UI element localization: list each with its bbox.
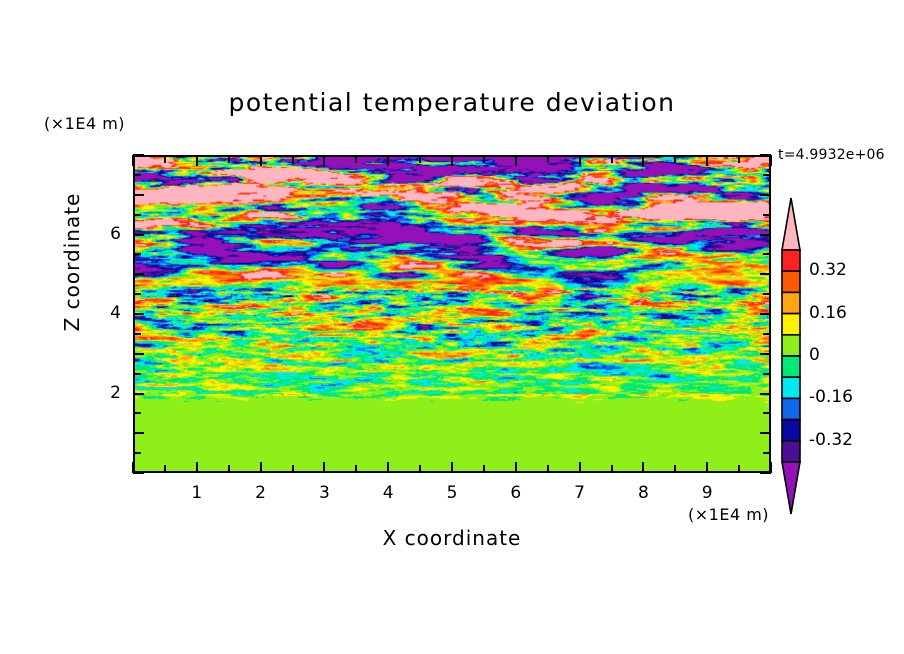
x-tick-top (642, 155, 644, 166)
y-tick (133, 333, 141, 335)
x-axis-units-label: (×1E4 m) (688, 505, 769, 524)
x-tick-top (323, 155, 325, 166)
y-tick (133, 472, 144, 474)
x-tick-top (611, 155, 613, 163)
x-tick-top (355, 155, 357, 163)
x-tick (579, 462, 581, 473)
y-axis-title: Z coordinate (60, 172, 84, 352)
x-tick-top (770, 155, 772, 166)
y-tick-right (760, 432, 771, 434)
x-tick (515, 462, 517, 473)
y-tick-right (763, 293, 771, 295)
x-tick-top (260, 155, 262, 166)
colorbar-swatches (781, 196, 801, 516)
page-title: potential temperature deviation (0, 88, 904, 117)
x-tick (260, 462, 262, 473)
y-tick-right (763, 174, 771, 176)
y-tick (133, 194, 144, 196)
x-tick (738, 465, 740, 473)
y-tick-right (760, 234, 771, 236)
colorbar-band (782, 420, 800, 441)
x-tick-top (547, 155, 549, 163)
y-tick-right (763, 373, 771, 375)
colorbar-band (782, 335, 800, 356)
x-tick (292, 465, 294, 473)
y-tick (133, 412, 141, 414)
x-tick (196, 462, 198, 473)
x-tick-top (515, 155, 517, 166)
x-tick-top (674, 155, 676, 163)
colorbar-band (782, 398, 800, 419)
colorbar-band (782, 314, 800, 335)
colorbar-band (782, 441, 800, 462)
y-tick (133, 234, 144, 236)
x-tick-top (228, 155, 230, 163)
y-tick (133, 214, 141, 216)
x-tick-label: 7 (565, 483, 595, 503)
x-tick-label: 9 (692, 483, 722, 503)
x-tick-label: 6 (501, 483, 531, 503)
colorbar-tick-label: 0.16 (809, 303, 847, 323)
x-tick-top (451, 155, 453, 166)
y-tick (133, 293, 141, 295)
y-tick (133, 373, 141, 375)
x-tick-top (196, 155, 198, 166)
y-axis-units-label: (×1E4 m) (44, 114, 125, 133)
x-tick (706, 462, 708, 473)
y-tick (133, 154, 144, 156)
x-tick-label: 2 (246, 483, 276, 503)
x-tick-top (579, 155, 581, 166)
y-tick (133, 353, 144, 355)
y-tick (133, 432, 144, 434)
x-axis-title: X coordinate (133, 526, 771, 550)
x-tick (323, 462, 325, 473)
colorbar-band (782, 356, 800, 377)
y-tick (133, 174, 141, 176)
figure-root: potential temperature deviation (×1E4 m)… (0, 0, 904, 654)
colorbar-band (782, 271, 800, 292)
colorbar-over-arrow (782, 198, 800, 250)
x-tick-label: 5 (437, 483, 467, 503)
x-tick-label: 3 (309, 483, 339, 503)
y-tick-right (760, 313, 771, 315)
y-tick (133, 273, 144, 275)
y-tick-right (760, 472, 771, 474)
y-tick-right (763, 412, 771, 414)
y-tick-right (760, 393, 771, 395)
x-tick-label: 4 (373, 483, 403, 503)
y-tick (133, 452, 141, 454)
x-tick-label: 8 (628, 483, 658, 503)
x-tick (164, 465, 166, 473)
x-tick-top (706, 155, 708, 166)
x-tick (547, 465, 549, 473)
y-tick-right (763, 333, 771, 335)
x-tick-top (132, 155, 134, 166)
x-tick (674, 465, 676, 473)
x-tick-top (419, 155, 421, 163)
y-tick-right (763, 452, 771, 454)
colorbar-under-arrow (782, 462, 800, 514)
colorbar-tick-label: -0.32 (809, 430, 853, 450)
x-tick-top (483, 155, 485, 163)
y-tick (133, 253, 141, 255)
plot-area[interactable] (133, 155, 771, 473)
x-tick (228, 465, 230, 473)
y-tick (133, 313, 144, 315)
x-tick-top (387, 155, 389, 166)
x-tick-top (292, 155, 294, 163)
colorbar-tick-label: 0 (809, 345, 820, 365)
colorbar-band (782, 250, 800, 271)
y-tick-right (760, 194, 771, 196)
x-tick (642, 462, 644, 473)
x-tick (483, 465, 485, 473)
x-tick (355, 465, 357, 473)
contour-field (135, 157, 769, 471)
x-tick-top (738, 155, 740, 163)
y-tick-right (760, 273, 771, 275)
y-tick (133, 393, 144, 395)
colorbar-tick-label: -0.16 (809, 387, 853, 407)
timestamp-annotation: t=4.9932e+06 (778, 147, 885, 163)
y-tick-right (763, 253, 771, 255)
y-tick-label: 4 (91, 303, 121, 323)
y-tick-label: 2 (91, 383, 121, 403)
y-tick-right (763, 214, 771, 216)
x-tick (387, 462, 389, 473)
y-tick-label: 6 (91, 224, 121, 244)
y-tick-right (760, 353, 771, 355)
colorbar-tick-label: 0.32 (809, 260, 847, 280)
colorbar-band (782, 377, 800, 398)
x-tick (611, 465, 613, 473)
x-tick-top (164, 155, 166, 163)
colorbar-band (782, 292, 800, 313)
y-tick-right (760, 154, 771, 156)
x-tick (451, 462, 453, 473)
x-tick (419, 465, 421, 473)
x-tick-label: 1 (182, 483, 212, 503)
colorbar[interactable] (781, 196, 801, 516)
